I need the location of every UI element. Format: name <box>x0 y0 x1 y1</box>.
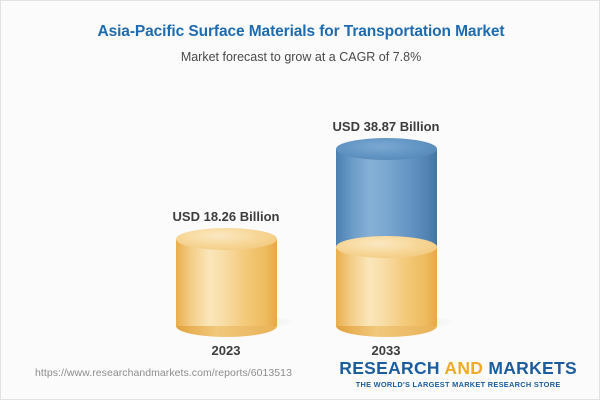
brand-name-part1: RESEARCH <box>339 358 444 378</box>
source-url[interactable]: https://www.researchandmarkets.com/repor… <box>35 367 292 379</box>
bar-group-2033: USD 38.87 Billion 2033 <box>306 81 466 346</box>
brand-tagline: THE WORLD'S LARGEST MARKET RESEARCH STOR… <box>339 377 577 389</box>
bar-segment-base-2033 <box>336 247 437 326</box>
brand-name-part2: MARKETS <box>483 358 577 378</box>
cylinder-top-cap-2033 <box>336 138 437 160</box>
cylinder-body-2023 <box>176 239 277 326</box>
chart-subtitle: Market forecast to grow at a CAGR of 7.8… <box>1 41 600 64</box>
chart-header: Asia-Pacific Surface Materials for Trans… <box>1 1 600 64</box>
bar-segment-growth-2033 <box>336 149 437 247</box>
chart-footer: https://www.researchandmarkets.com/repor… <box>1 351 600 399</box>
value-label-2033: USD 38.87 Billion <box>306 119 466 134</box>
cylinder-2023 <box>176 239 277 326</box>
brand-name-and: AND <box>444 358 483 378</box>
value-label-2023: USD 18.26 Billion <box>146 209 306 224</box>
research-and-markets-logo[interactable]: RESEARCH AND MARKETS THE WORLD'S LARGEST… <box>339 359 577 389</box>
page-title: Asia-Pacific Surface Materials for Trans… <box>1 1 600 41</box>
brand-name: RESEARCH AND MARKETS <box>339 359 577 377</box>
cylinder-divider-cap-2033 <box>336 236 437 258</box>
cylinder-2033 <box>336 149 437 326</box>
cylinder-body-growth-2033 <box>336 149 437 247</box>
cylinder-body-base-2033 <box>336 247 437 326</box>
infographic-canvas: Asia-Pacific Surface Materials for Trans… <box>0 0 600 400</box>
bar-segment-base-2023 <box>176 239 277 326</box>
cylinder-top-cap-2023 <box>176 228 277 250</box>
chart-plot-area: USD 18.26 Billion 2023 USD 38.87 Billion <box>1 81 600 346</box>
bar-group-2023: USD 18.26 Billion 2023 <box>146 81 306 346</box>
